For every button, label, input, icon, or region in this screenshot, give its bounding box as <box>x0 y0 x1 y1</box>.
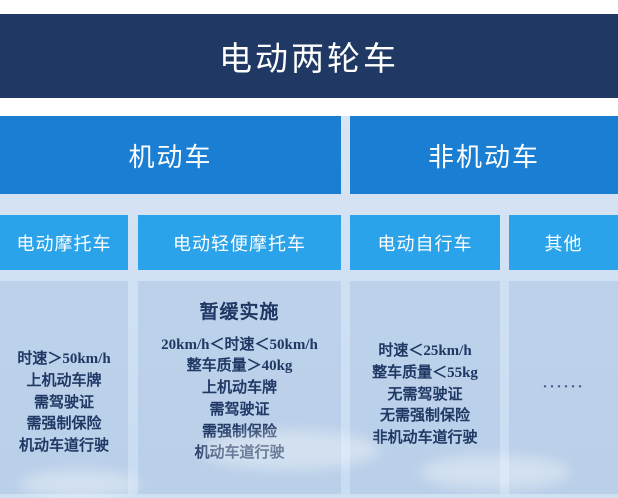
detail-line: 非机动车道行驶 <box>350 428 500 450</box>
detail-line: 整车质量＜55kg <box>350 363 500 385</box>
detail-line: 需强制保险 <box>138 422 341 444</box>
subcategory-electric-motorcycle-label: 电动摩托车 <box>17 230 112 256</box>
detail-line: 上机动车牌 <box>138 378 341 400</box>
detail-line: 时速＜25km/h <box>350 341 500 363</box>
category-motor-vehicle-label: 机动车 <box>128 137 212 174</box>
detail-line: 上机动车牌 <box>0 371 128 393</box>
subcategory-other-label: 其他 <box>545 230 583 256</box>
detail-line: ······ <box>542 377 584 399</box>
top-white-band <box>0 0 618 14</box>
detail-line: 20km/h＜时速＜50km/h <box>138 335 341 357</box>
detail-line: 机动车道行驶 <box>0 436 128 458</box>
subcategory-electric-motorcycle[interactable]: 电动摩托车 <box>0 215 128 270</box>
divider-white <box>0 98 618 116</box>
detail-line: 整车质量＞40kg <box>138 356 341 378</box>
detail-line: 需驾驶证 <box>138 400 341 422</box>
subcategory-other[interactable]: 其他 <box>509 215 618 270</box>
subcategory-electric-moped-label: 电动轻便摩托车 <box>173 230 306 256</box>
infographic-root: 电动两轮车 机动车 非机动车 电动摩托车 电动轻便摩托车 电动自行车 其他 时速… <box>0 0 618 494</box>
detail-line: 需强制保险 <box>0 414 128 436</box>
title-bar: 电动两轮车 <box>0 14 618 98</box>
details-electric-moped: 暂缓实施 20km/h＜时速＜50km/h 整车质量＞40kg 上机动车牌 需驾… <box>138 281 341 494</box>
detail-line: 时速＞50km/h <box>0 349 128 371</box>
details-electric-moped-heading: 暂缓实施 <box>138 299 341 327</box>
category-non-motor-vehicle-label: 非机动车 <box>428 137 540 174</box>
details-electric-bicycle: 时速＜25km/h 整车质量＜55kg 无需驾驶证 无需强制保险 非机动车道行驶 <box>350 281 500 494</box>
detail-line: 无需强制保险 <box>350 406 500 428</box>
detail-line: 无需驾驶证 <box>350 385 500 407</box>
category-motor-vehicle[interactable]: 机动车 <box>0 116 341 194</box>
details-electric-motorcycle: 时速＞50km/h 上机动车牌 需驾驶证 需强制保险 机动车道行驶 <box>0 281 128 494</box>
subcategory-electric-bicycle[interactable]: 电动自行车 <box>350 215 500 270</box>
details-other: ······ <box>509 281 618 494</box>
page-title: 电动两轮车 <box>219 32 399 80</box>
detail-line: 机动车道行驶 <box>138 443 341 465</box>
subcategory-electric-moped[interactable]: 电动轻便摩托车 <box>138 215 341 270</box>
subcategory-electric-bicycle-label: 电动自行车 <box>378 230 473 256</box>
category-non-motor-vehicle[interactable]: 非机动车 <box>350 116 618 194</box>
detail-line: 需驾驶证 <box>0 393 128 415</box>
